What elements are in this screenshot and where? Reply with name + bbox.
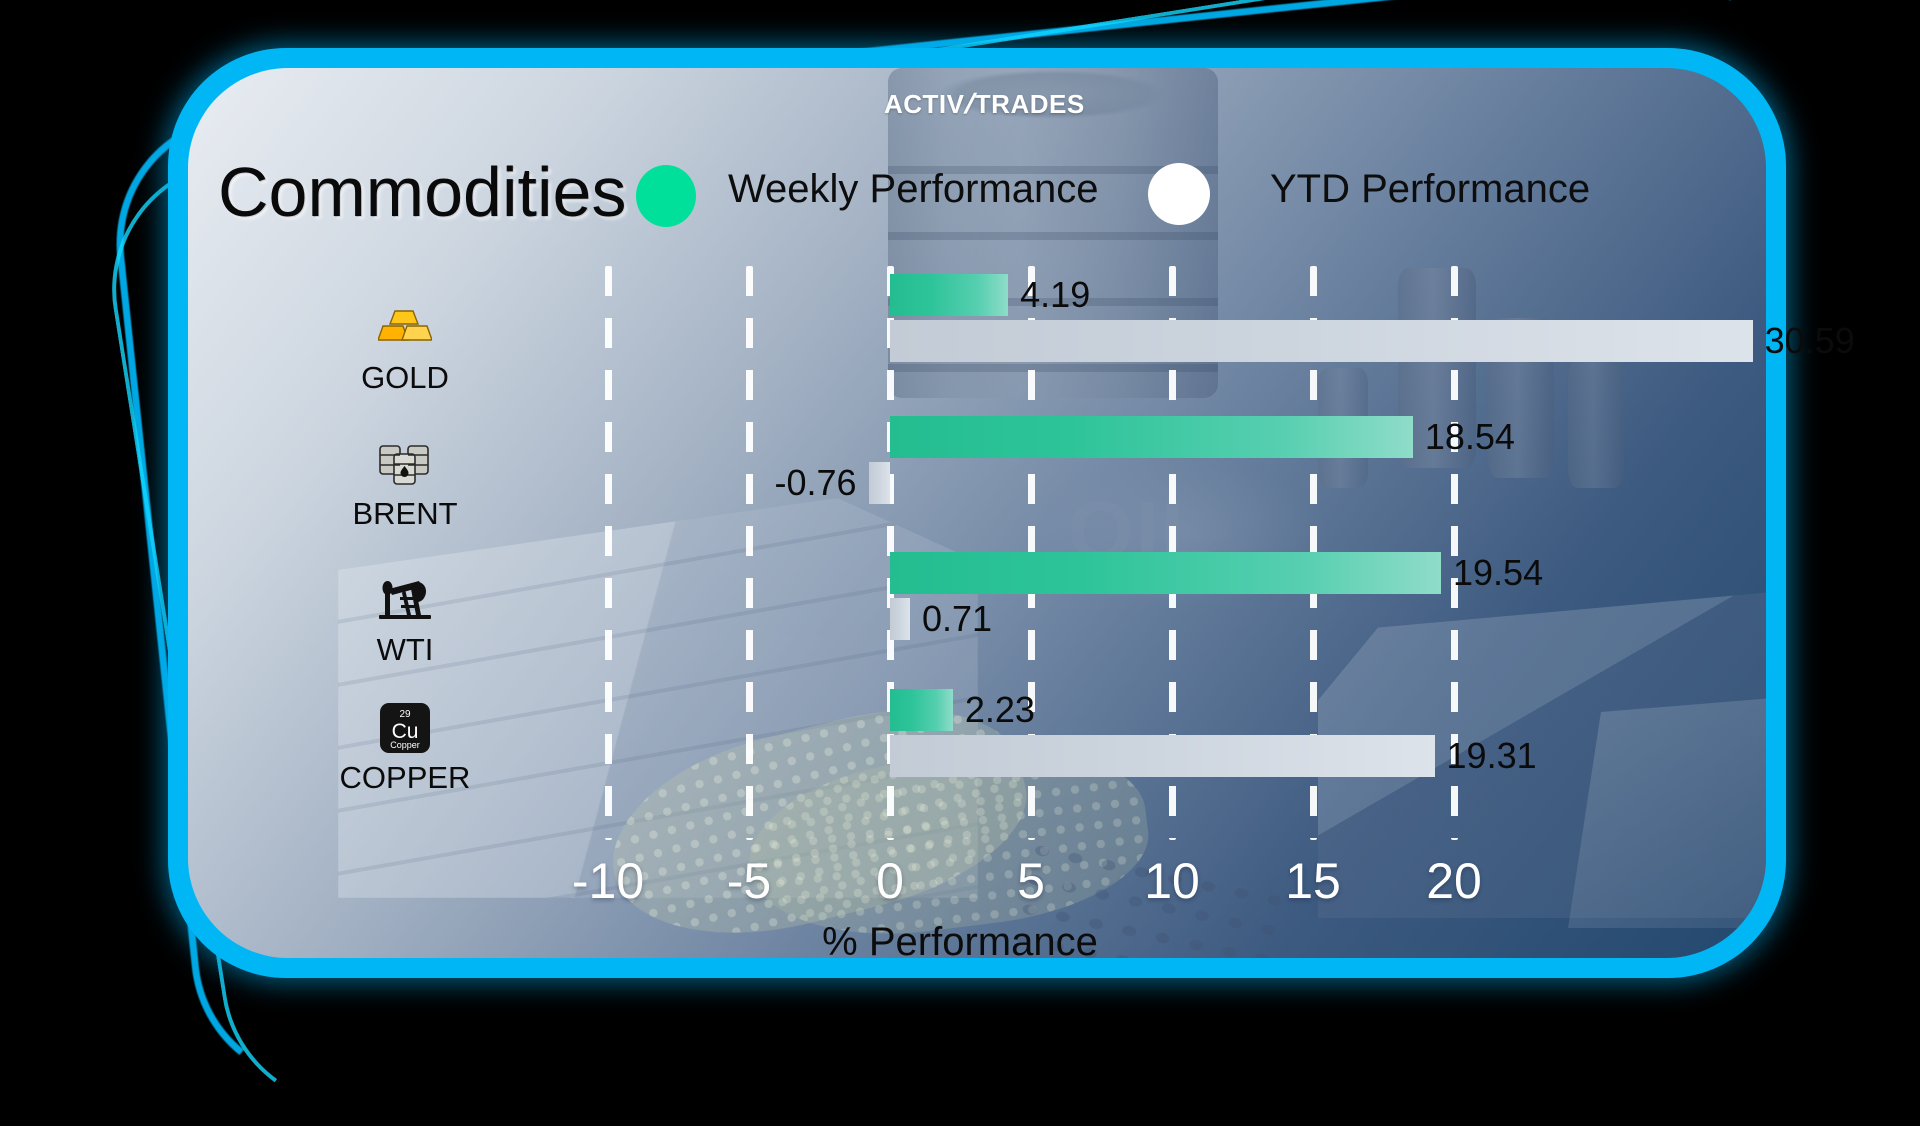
- logo-text-activ: ACTIV: [884, 89, 965, 119]
- legend-label-ytd: YTD Performance: [1270, 167, 1590, 212]
- x-tick-label-15: 15: [1285, 852, 1341, 910]
- bar-row-brent: 18.54-0.76: [0, 400, 1920, 546]
- category-label-gold: GOLD: [295, 360, 515, 396]
- bar-value-weekly-copper: 2.23: [965, 689, 1035, 731]
- bar-weekly-copper: [890, 689, 953, 731]
- oil-barrels-icon: [377, 440, 433, 488]
- legend-label-weekly: Weekly Performance: [728, 167, 1099, 212]
- copper-element-icon-wrap: 29 Cu Copper: [295, 700, 515, 756]
- bar-ytd-copper: [890, 735, 1435, 777]
- x-axis-title: % Performance: [822, 920, 1098, 965]
- bar-ytd-gold: [890, 320, 1753, 362]
- category-wti: WTI: [295, 572, 515, 668]
- x-tick-label-10: 10: [1144, 852, 1200, 910]
- x-tick-label--5: -5: [727, 852, 771, 910]
- svg-text:29: 29: [399, 709, 411, 720]
- oil-pumpjack-icon: [375, 577, 435, 623]
- category-copper: 29 Cu Copper COPPER: [295, 700, 515, 796]
- chart-content: ACTIV/TRADES Commodities Weekly Performa…: [0, 0, 1920, 1080]
- bar-value-ytd-wti: 0.71: [922, 598, 992, 640]
- svg-text:Copper: Copper: [390, 740, 420, 750]
- bar-weekly-brent: [890, 416, 1413, 458]
- x-tick-label-5: 5: [1017, 852, 1045, 910]
- oil-barrels-icon-wrap: [295, 436, 515, 492]
- oil-pumpjack-icon-wrap: [295, 572, 515, 628]
- category-label-copper: COPPER: [295, 760, 515, 796]
- bar-value-ytd-gold: 30.59: [1765, 320, 1855, 362]
- bar-value-weekly-gold: 4.19: [1020, 274, 1090, 316]
- page-title: Commodities: [218, 152, 626, 232]
- bar-ytd-wti: [890, 598, 910, 640]
- category-gold: GOLD: [295, 300, 515, 396]
- gold-bars-icon: [378, 308, 432, 348]
- logo-text-trades: TRADES: [975, 89, 1085, 119]
- bar-value-weekly-brent: 18.54: [1425, 416, 1515, 458]
- bar-row-gold: 4.1930.59: [0, 258, 1920, 404]
- gold-bars-icon-wrap: [295, 300, 515, 356]
- x-tick-label--10: -10: [572, 852, 644, 910]
- bar-row-copper: 2.2319.31: [0, 673, 1920, 819]
- bar-value-ytd-brent: -0.76: [775, 462, 857, 504]
- bar-ytd-brent: [869, 462, 890, 504]
- x-tick-label-20: 20: [1426, 852, 1482, 910]
- plot-area: 4.1930.5918.54-0.7619.540.712.2319.31: [0, 258, 1920, 840]
- category-label-wti: WTI: [295, 632, 515, 668]
- bar-value-weekly-wti: 19.54: [1453, 552, 1543, 594]
- legend-marker-ytd: [1148, 163, 1210, 225]
- bar-row-wti: 19.540.71: [0, 536, 1920, 682]
- copper-element-icon: 29 Cu Copper: [379, 702, 431, 754]
- screenshot-root: OIL ACTIV/TRADES Commodities Weekly Perf…: [0, 0, 1920, 1080]
- category-brent: BRENT: [295, 436, 515, 532]
- bar-weekly-wti: [890, 552, 1441, 594]
- x-tick-label-0: 0: [876, 852, 904, 910]
- legend-marker-weekly: [636, 165, 696, 227]
- category-label-brent: BRENT: [295, 496, 515, 532]
- bar-value-ytd-copper: 19.31: [1447, 735, 1537, 777]
- bar-weekly-gold: [890, 274, 1008, 316]
- activtrades-logo: ACTIV/TRADES: [884, 88, 1085, 120]
